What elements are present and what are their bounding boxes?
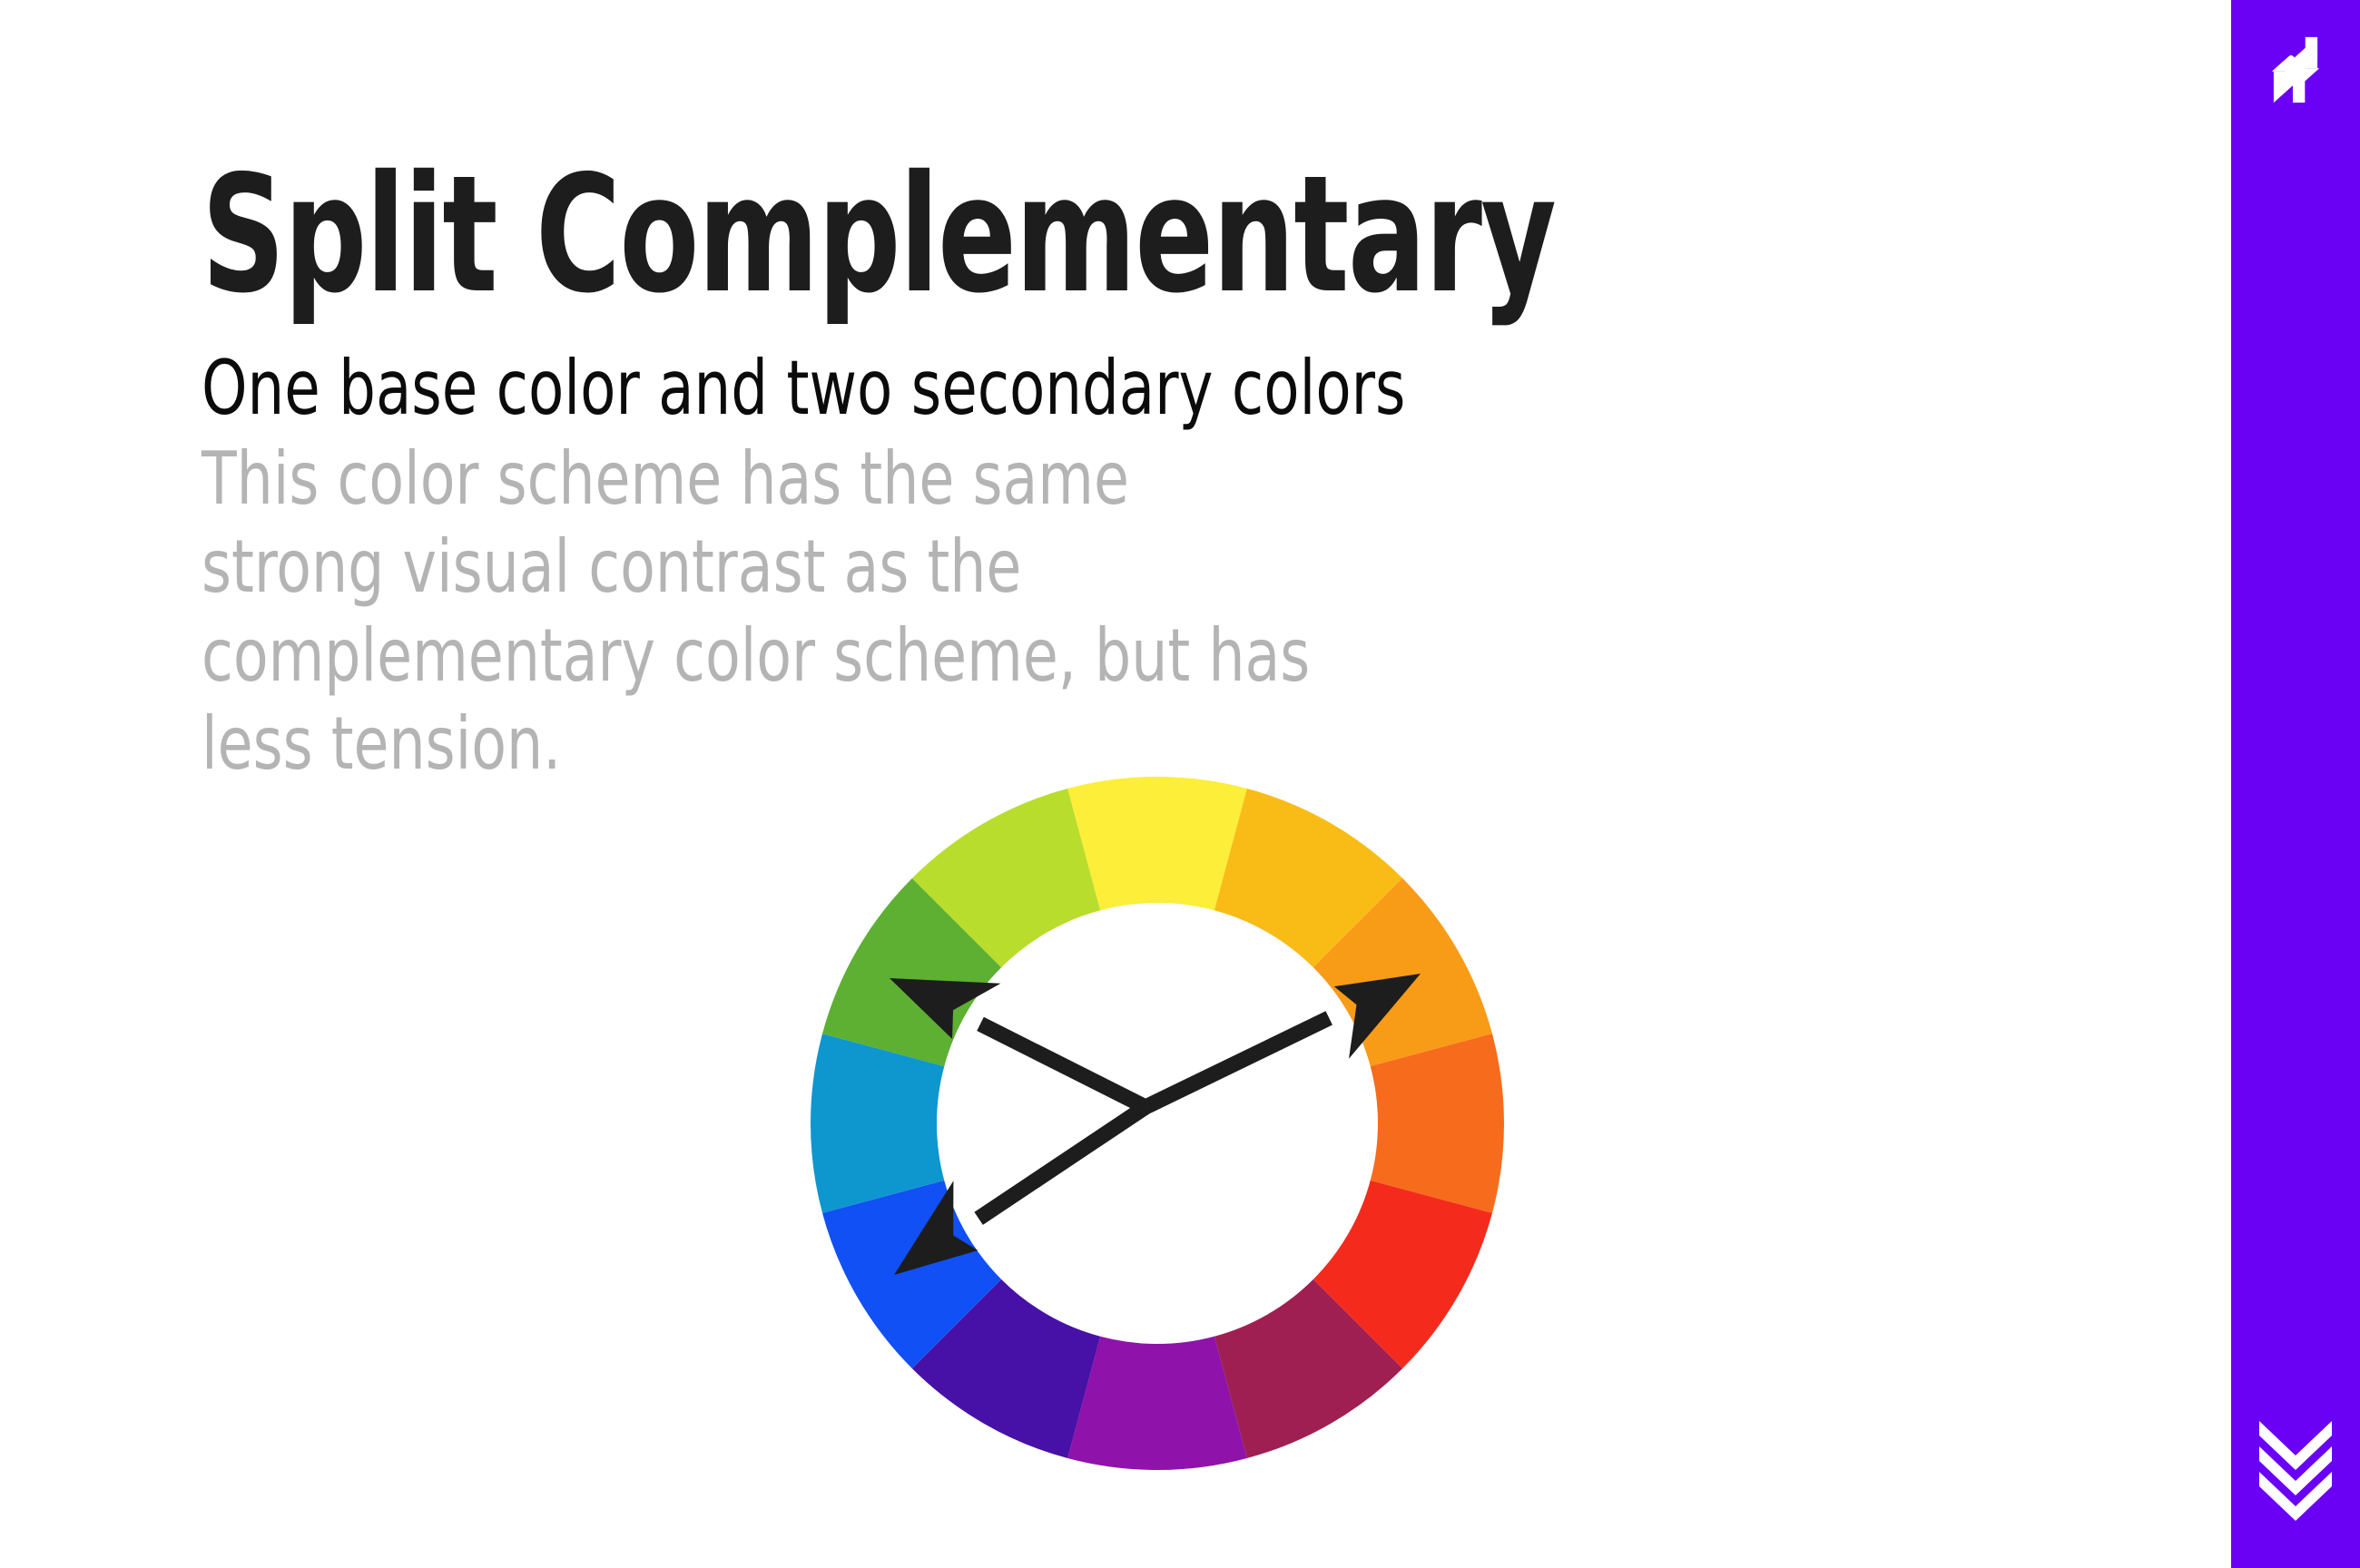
double-chevron-down-icon[interactable]	[2254, 1419, 2337, 1521]
wheel-arrow-annotations	[890, 974, 1421, 1275]
sidebar-background	[2231, 0, 2360, 1568]
brand-sidebar	[2231, 0, 2360, 1568]
secondary-color-arrow-2-shaft	[1142, 1011, 1332, 1113]
page-description: This color scheme has the same strong vi…	[202, 435, 1320, 789]
secondary-color-arrow-1-shaft	[977, 1017, 1149, 1114]
wheel-segments	[811, 777, 1504, 1470]
page-title: Split Complementary	[202, 152, 1654, 318]
base-color-arrow-shaft	[974, 1101, 1149, 1225]
page-subtitle: One base color and two secondary colors	[202, 350, 1763, 426]
color-wheel-figure	[781, 749, 1534, 1502]
text-block: Split Complementary One base color and t…	[202, 152, 2017, 789]
slide-canvas: Split Complementary One base color and t…	[0, 0, 2360, 1568]
lightning-bolt-logo-icon[interactable]	[2257, 31, 2335, 109]
color-wheel-chart	[781, 749, 1534, 1502]
chevron-down-icon-3	[2259, 1472, 2332, 1521]
